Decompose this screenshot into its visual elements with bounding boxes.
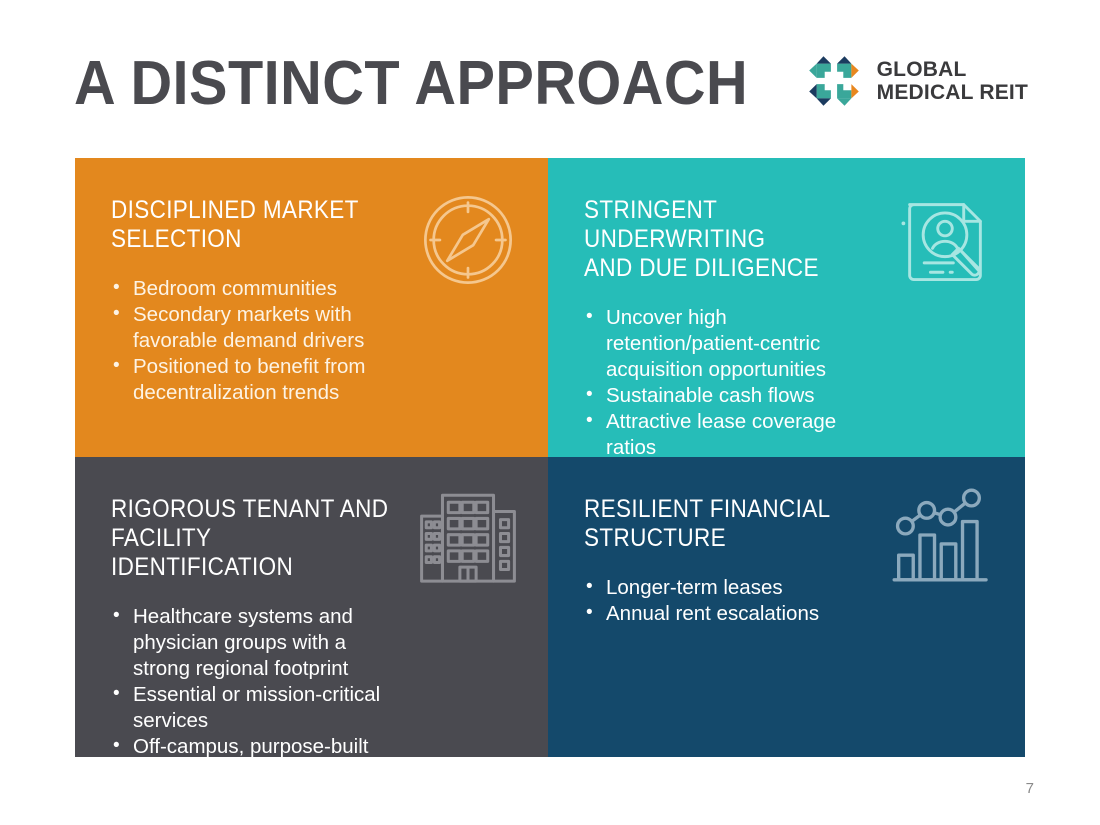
quadrant-title: RIGOROUS TENANT AND FACILITY IDENTIFICAT… bbox=[111, 495, 435, 582]
quadrant-title: STRINGENT UNDERWRITING AND DUE DILIGENCE bbox=[584, 196, 890, 283]
approach-quadrant-grid: DISCIPLINED MARKET SELECTION Bedroom com… bbox=[75, 158, 1025, 757]
quadrant-resilient-financial-structure: RESILIENT FINANCIAL STRUCTURE Longer-ter… bbox=[548, 457, 1025, 757]
list-item: Annual rent escalations bbox=[584, 601, 874, 627]
list-item: Uncover high retention/patient-centric a… bbox=[584, 305, 884, 383]
logo: GLOBAL MEDICAL REIT bbox=[803, 50, 1028, 112]
list-item: Secondary markets with favorable demand … bbox=[111, 302, 401, 354]
quadrant-title: DISCIPLINED MARKET SELECTION bbox=[111, 196, 417, 254]
quadrant-bullet-list: Uncover high retention/patient-centric a… bbox=[584, 305, 884, 457]
quadrant-bullet-list: Longer-term leases Annual rent escalatio… bbox=[584, 575, 874, 627]
list-item: Positioned to benefit from decentralizat… bbox=[111, 354, 401, 406]
page-number: 7 bbox=[1026, 780, 1034, 797]
list-item: Bedroom communities bbox=[111, 276, 401, 302]
logo-pinwheel-icon bbox=[803, 50, 865, 112]
list-item: Healthcare systems and physician groups … bbox=[111, 604, 381, 682]
logo-line-2: MEDICAL REIT bbox=[877, 81, 1028, 104]
compass-icon bbox=[416, 188, 520, 292]
quadrant-disciplined-market-selection: DISCIPLINED MARKET SELECTION Bedroom com… bbox=[75, 158, 548, 457]
quadrant-rigorous-tenant-and-facility-identification: RIGOROUS TENANT AND FACILITY IDENTIFICAT… bbox=[75, 457, 548, 757]
quadrant-bullet-list: Healthcare systems and physician groups … bbox=[111, 604, 381, 757]
bar-chart-growth-icon bbox=[883, 479, 995, 591]
page-title: A DISTINCT APPROACH bbox=[74, 52, 748, 116]
logo-text: GLOBAL MEDICAL REIT bbox=[877, 58, 1028, 104]
quadrant-bullet-list: Bedroom communities Secondary markets wi… bbox=[111, 276, 401, 406]
list-item: Attractive lease coverage ratios bbox=[584, 409, 884, 457]
list-item: Sustainable cash flows bbox=[584, 383, 884, 409]
building-icon bbox=[410, 479, 526, 595]
list-item: Off-campus, purpose-built bbox=[111, 734, 381, 757]
document-search-icon bbox=[893, 188, 997, 292]
quadrant-title: RESILIENT FINANCIAL STRUCTURE bbox=[584, 495, 890, 553]
logo-line-1: GLOBAL bbox=[877, 58, 1028, 81]
list-item: Longer-term leases bbox=[584, 575, 874, 601]
list-item: Essential or mission-critical services bbox=[111, 682, 381, 734]
quadrant-stringent-underwriting-and-due-diligence: STRINGENT UNDERWRITING AND DUE DILIGENCE… bbox=[548, 158, 1025, 457]
